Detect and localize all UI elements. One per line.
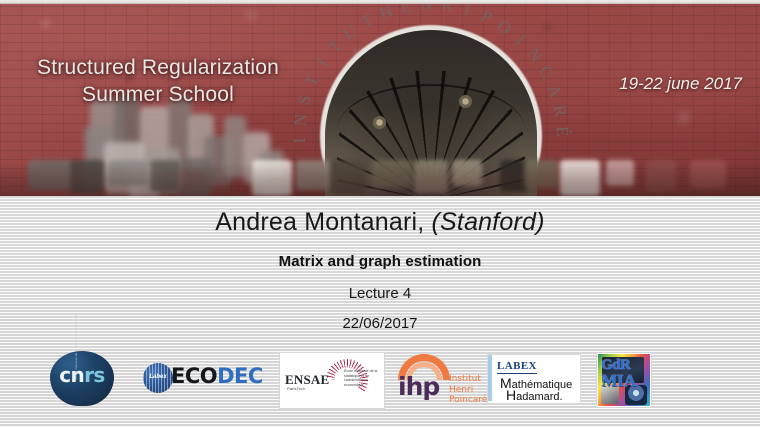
inscription-letter: H xyxy=(377,1,395,24)
inscription-letter: U xyxy=(339,21,361,44)
lmh-labex-label: LABEX xyxy=(497,360,537,374)
speaker-name: Andrea Montanari, xyxy=(215,208,424,236)
mia-mia-label: MIA xyxy=(601,371,647,391)
inscription-letter: T xyxy=(358,10,377,33)
ecodec-wordmark: ECODEC xyxy=(171,364,263,388)
inscription-letter: P xyxy=(478,6,495,28)
event-date: 19-22 june 2017 xyxy=(619,74,742,94)
inscription-letter: R xyxy=(549,104,571,119)
cnrs-wordmark: cnrs xyxy=(48,363,116,387)
speaker-affiliation: (Stanford) xyxy=(432,208,545,236)
inscription-letter: N xyxy=(523,44,546,66)
logo-ecodec: Labex ECODEC xyxy=(143,359,263,399)
event-title-line-2: Summer School xyxy=(8,81,308,108)
photo-bottom-shadow xyxy=(0,162,760,196)
inscription-letter: C xyxy=(534,63,557,83)
sponsor-logo-row: cnrs centre national de la recherche sci… xyxy=(0,350,760,412)
logo-gdr-mia: GdR MIA xyxy=(596,352,652,408)
presentation-slide: INSTITUTHENRIPOINCARÉ Structured Regular… xyxy=(0,0,760,427)
cnrs-wordmark-accent: rs xyxy=(84,363,105,387)
inscription-letter: T xyxy=(324,36,346,57)
inscription-letter: I xyxy=(511,31,529,49)
talk-title: Matrix and graph estimation xyxy=(0,253,760,270)
speaker-line: Andrea Montanari, (Stanford) xyxy=(0,208,760,237)
lmh-word2-rest: adamard. xyxy=(516,391,562,403)
slide-body: Andrea Montanari, (Stanford) Matrix and … xyxy=(0,196,760,427)
ihp-name-line-2: Henri xyxy=(449,385,489,396)
top-edge-strip xyxy=(0,0,760,4)
cnrs-vertical-tagline: centre national de la recherche scientif… xyxy=(74,314,78,380)
inscription-letter: É xyxy=(552,126,572,137)
ensae-subtitle: ParisTech xyxy=(287,386,305,391)
lmh-word-hadamard: Hadamard. xyxy=(506,387,563,403)
ecodec-word-dark: ECO xyxy=(171,364,217,388)
lecture-date: 22/06/2017 xyxy=(0,315,760,332)
cnrs-wordmark-dark: cn xyxy=(59,363,84,387)
event-title-line-1: Structured Regularization xyxy=(8,54,308,81)
inscription-letter: I xyxy=(313,55,333,71)
lecture-number: Lecture 4 xyxy=(0,285,760,302)
logo-labex-mathematique-hadamard: LABEX Mathématique Hadamard. xyxy=(487,354,581,404)
lmh-accent-bar xyxy=(488,355,492,401)
ecodec-labex-badge: Labex xyxy=(143,363,173,393)
ihp-acronym: ihp xyxy=(398,372,439,401)
logo-ensae: ENSAE ParisTech École nationale de la st… xyxy=(279,352,385,409)
ihp-name-line-3: Poincaré xyxy=(449,395,489,406)
event-title: Structured Regularization Summer School xyxy=(8,54,308,108)
ihp-full-name: Institut Henri Poincaré xyxy=(449,374,489,406)
lmh-word2-cap: H xyxy=(506,387,516,403)
ihp-name-line-1: Institut xyxy=(449,374,489,385)
inscription-letter: O xyxy=(494,16,515,39)
ecodec-labex-label: Labex xyxy=(143,374,173,380)
inscription-letter: A xyxy=(543,82,566,100)
logo-institut-henri-poincare: ihp Institut Henri Poincaré xyxy=(393,354,487,406)
header-photo-banner: INSTITUTHENRIPOINCARÉ Structured Regular… xyxy=(0,0,760,196)
ecodec-word-blue: DEC xyxy=(217,364,263,388)
logo-cnrs: cnrs centre national de la recherche sci… xyxy=(48,350,116,410)
ensae-description: École nationale de la statistique et de … xyxy=(344,369,382,387)
